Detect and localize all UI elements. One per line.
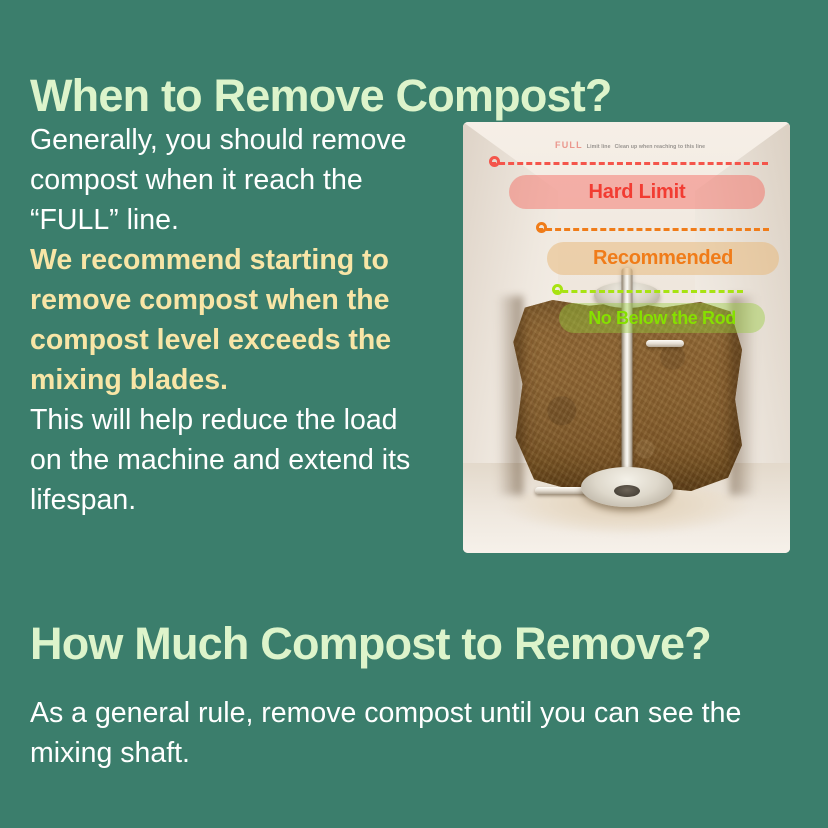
section-two-heading: How Much Compost to Remove?	[30, 620, 711, 667]
mixing-shaft	[621, 268, 632, 479]
printed-full-word: FULL	[555, 140, 583, 150]
no-below-dot-icon	[552, 284, 563, 295]
printed-full-limit-label: FULL Limit line Clean up when reaching t…	[555, 140, 705, 150]
recommended-dot-icon	[536, 222, 547, 233]
paragraph-lead: Generally, you should remove compost whe…	[30, 120, 430, 240]
hard-limit-dashed-line	[490, 162, 768, 165]
infographic-poster: When to Remove Compost? Generally, you s…	[0, 0, 828, 828]
paragraph-emphasis: We recommend starting to remove compost …	[30, 240, 430, 400]
shaft-base-hole	[614, 485, 640, 497]
printed-limit-note: Clean up when reaching to this line	[615, 144, 706, 150]
paragraph-closing: As a general rule, remove compost until …	[30, 693, 760, 773]
recommended-dashed-line	[537, 228, 769, 231]
paragraph-tail: This will help reduce the load on the ma…	[30, 400, 430, 520]
recommended-badge: Recommended	[547, 242, 779, 275]
composter-bin-photo: FULL Limit line Clean up when reaching t…	[463, 122, 790, 553]
section-one-heading: When to Remove Compost?	[30, 72, 612, 119]
mixing-blade-upper	[646, 340, 684, 347]
section-one-copy: Generally, you should remove compost whe…	[30, 120, 430, 520]
photo-scene: FULL Limit line Clean up when reaching t…	[463, 122, 790, 553]
no-below-dashed-line	[553, 290, 743, 293]
hard-limit-badge: Hard Limit	[509, 175, 765, 209]
compost-shadow-left	[497, 296, 523, 495]
hard-limit-dot-icon	[489, 156, 500, 167]
printed-limit-line-text: Limit line	[587, 144, 611, 150]
section-two-copy: As a general rule, remove compost until …	[30, 664, 760, 801]
no-below-badge: No Below the Rod	[559, 303, 765, 333]
